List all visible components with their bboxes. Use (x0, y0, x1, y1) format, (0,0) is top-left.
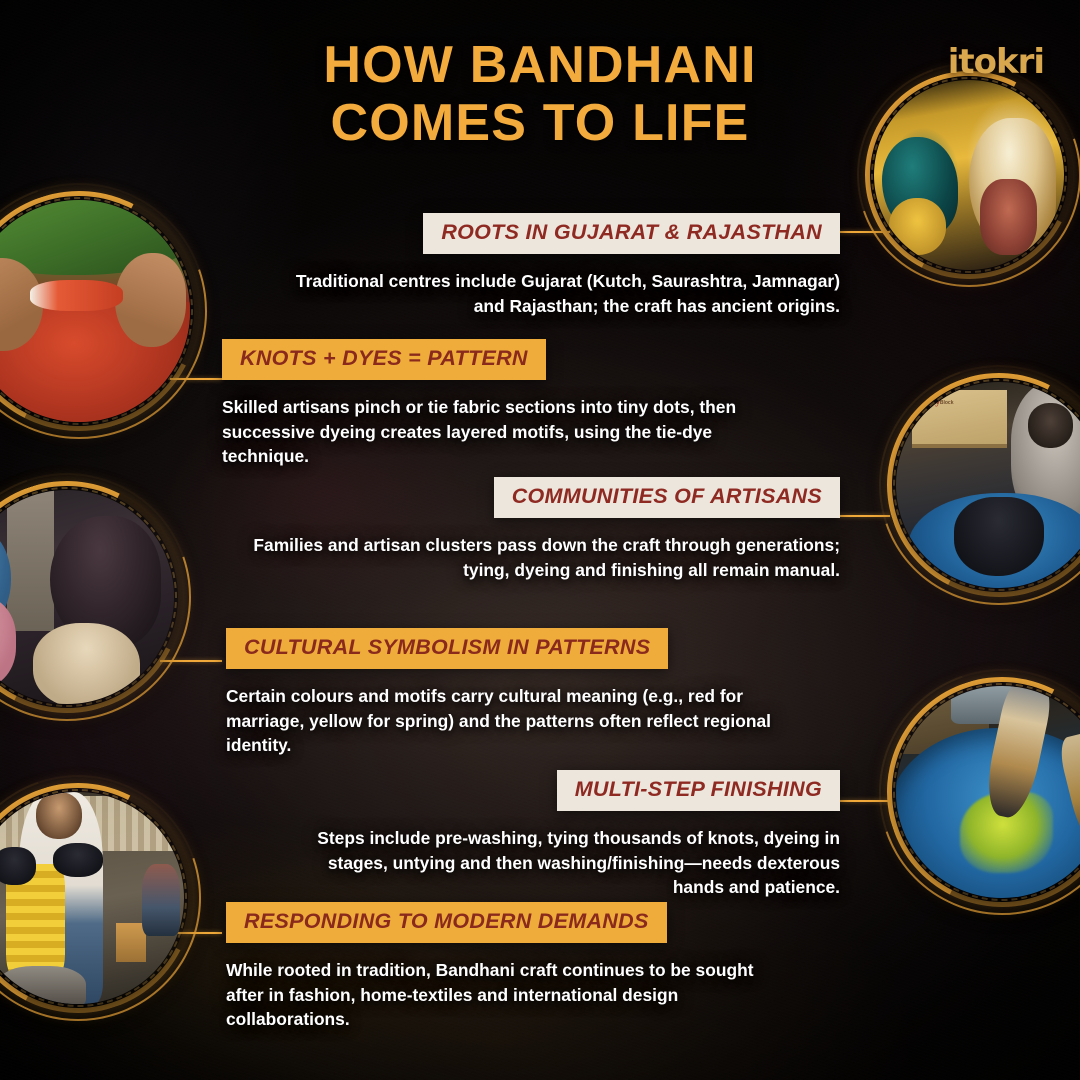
photo-frame (0, 490, 174, 704)
photo-yellow-cloth-lift (0, 792, 184, 1004)
section-body-5: Steps include pre-washing, tying thousan… (306, 826, 840, 900)
photo-frame (896, 686, 1080, 898)
section-responding-to-modern-demands: RESPONDING TO MODERN DEMANDS While roote… (226, 902, 782, 1032)
section-body-4: Certain colours and motifs carry cultura… (226, 684, 782, 758)
brand-logo-text: itokri (948, 42, 1044, 82)
section-header-5: MULTI-STEP FINISHING (557, 770, 840, 811)
section-communities-of-artisans: COMMUNITIES OF ARTISANS Families and art… (240, 477, 840, 582)
infographic-poster: HOW BANDHANI COMES TO LIFE itokri (0, 0, 1080, 1080)
photo-frame (0, 200, 190, 422)
photo-frame (0, 792, 184, 1004)
section-roots-in-gujarat-rajasthan: ROOTS IN GUJARAT & RAJASTHAN Traditional… (268, 213, 840, 318)
photo-dyer-blue-tub: y.yWater Block (896, 382, 1080, 588)
brand-logo[interactable]: itokri (948, 42, 1044, 82)
photo-frame: y.yWater Block (896, 382, 1080, 588)
section-header-4: CULTURAL SYMBOLISM IN PATTERNS (226, 628, 668, 669)
section-header-1: ROOTS IN GUJARAT & RAJASTHAN (423, 213, 840, 254)
section-header-2: KNOTS + DYES = PATTERN (222, 339, 546, 380)
section-multi-step-finishing: MULTI-STEP FINISHING Steps include pre-w… (306, 770, 840, 900)
section-knots-dyes-pattern: KNOTS + DYES = PATTERN Skilled artisans … (222, 339, 752, 469)
scene-hands-red-cloth (0, 200, 190, 422)
scene-yellow-cloth-lift (0, 792, 184, 1004)
section-body-2: Skilled artisans pinch or tie fabric sec… (222, 395, 752, 469)
scene-woman-shawl (0, 490, 174, 704)
scene-dye-tub-swirl (896, 686, 1080, 898)
title-line-1: HOW BANDHANI (0, 36, 1080, 94)
section-header-6: RESPONDING TO MODERN DEMANDS (226, 902, 667, 943)
photo-woman-shawl-tying (0, 490, 174, 704)
title-line-2: COMES TO LIFE (0, 94, 1080, 152)
section-body-3: Families and artisan clusters pass down … (240, 533, 840, 582)
photo-dye-tub-swirl (896, 686, 1080, 898)
section-body-6: While rooted in tradition, Bandhani craf… (226, 958, 782, 1032)
section-cultural-symbolism-in-patterns: CULTURAL SYMBOLISM IN PATTERNS Certain c… (226, 628, 782, 758)
photo-hands-red-cloth (0, 200, 190, 422)
section-header-3: COMMUNITIES OF ARTISANS (494, 477, 840, 518)
section-body-1: Traditional centres include Gujarat (Kut… (268, 269, 840, 318)
scene-dyer-blue-tub: y.yWater Block (896, 382, 1080, 588)
page-title: HOW BANDHANI COMES TO LIFE (0, 36, 1080, 152)
